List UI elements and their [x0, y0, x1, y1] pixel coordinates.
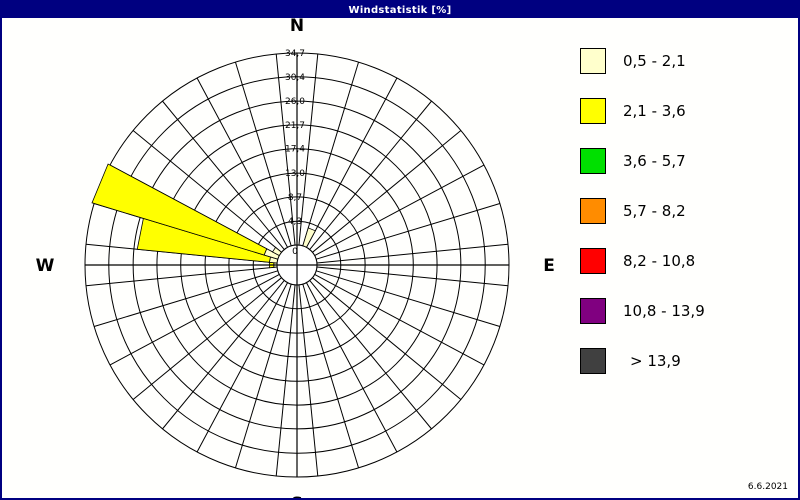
direction-label-east: E — [543, 256, 555, 276]
grid-spoke — [197, 283, 288, 452]
legend-swatch — [580, 98, 606, 124]
radial-tick-label: 21,7 — [285, 121, 305, 131]
legend-swatch — [580, 48, 606, 74]
legend-swatch — [580, 298, 606, 324]
radial-tick-label: 26,0 — [285, 97, 305, 107]
grid-spoke — [299, 285, 318, 476]
legend-item: 0,5 - 2,1 — [580, 36, 790, 86]
legend-label: 10,8 - 13,9 — [623, 302, 705, 320]
legend-label: 5,7 - 8,2 — [623, 202, 686, 220]
grid-spoke — [163, 280, 285, 428]
grid-spoke — [303, 62, 359, 246]
windrose-svg: NSWE4,38,713,017,421,726,030,434,70 — [2, 18, 562, 498]
legend-swatch — [580, 198, 606, 224]
window-title-bar: Windstatistik [%] — [2, 2, 798, 18]
grid-spoke — [315, 274, 484, 365]
legend-label: 0,5 - 2,1 — [623, 52, 686, 70]
legend-swatch — [580, 148, 606, 174]
radial-tick-label: 17,4 — [285, 145, 305, 155]
footer-date: 6.6.2021 — [748, 482, 788, 492]
radial-tick-label: 13,0 — [285, 169, 305, 179]
grid-spoke — [133, 278, 281, 400]
legend-label: > 13,9 — [630, 352, 681, 370]
legend-label: 3,6 - 5,7 — [623, 152, 686, 170]
legend-label: 2,1 - 3,6 — [623, 102, 686, 120]
grid-spoke — [306, 283, 397, 452]
grid-spoke — [310, 280, 432, 428]
direction-label-west: W — [36, 256, 55, 276]
legend-item: 8,2 - 10,8 — [580, 236, 790, 286]
radial-tick-label: 4,3 — [288, 217, 302, 227]
grid-spoke — [94, 271, 278, 327]
radial-tick-label: 34,7 — [285, 49, 305, 59]
grid-spoke — [303, 284, 359, 468]
legend-item: 10,8 - 13,9 — [580, 286, 790, 336]
grid-spoke — [235, 62, 291, 246]
grid-spoke — [312, 131, 460, 253]
legend-swatch — [580, 348, 606, 374]
windrose-window: Windstatistik [%] NSWE4,38,713,017,421,7… — [0, 0, 800, 500]
windrose-plot: NSWE4,38,713,017,421,726,030,434,70 — [2, 18, 562, 498]
radial-tick-label-zero: 0 — [292, 247, 298, 257]
radial-tick-label: 8,7 — [288, 193, 302, 203]
grid-spoke — [235, 284, 291, 468]
grid-spoke — [317, 244, 508, 263]
grid-spoke — [86, 267, 277, 286]
legend-item: > 13,9 — [580, 336, 790, 386]
window-title: Windstatistik [%] — [349, 5, 452, 16]
cardinal-axes — [85, 53, 509, 477]
grid-spoke — [310, 101, 432, 249]
legend: 0,5 - 2,12,1 - 3,63,6 - 5,75,7 - 8,28,2 … — [580, 36, 790, 386]
legend-swatch — [580, 248, 606, 274]
grid-spoke — [276, 285, 295, 476]
legend-item: 3,6 - 5,7 — [580, 136, 790, 186]
direction-label-south: S — [291, 494, 303, 498]
grid-spoke — [316, 271, 500, 327]
legend-item: 2,1 - 3,6 — [580, 86, 790, 136]
legend-label: 8,2 - 10,8 — [623, 252, 695, 270]
direction-label-north: N — [290, 18, 304, 36]
radial-tick-label: 30,4 — [285, 73, 305, 83]
grid-spoke — [110, 274, 279, 365]
grid-spoke — [317, 267, 508, 286]
grid-spoke — [316, 203, 500, 259]
legend-item: 5,7 - 8,2 — [580, 186, 790, 236]
grid-spoke — [312, 278, 460, 400]
grid-spoke — [306, 78, 397, 247]
grid-spoke — [315, 165, 484, 256]
